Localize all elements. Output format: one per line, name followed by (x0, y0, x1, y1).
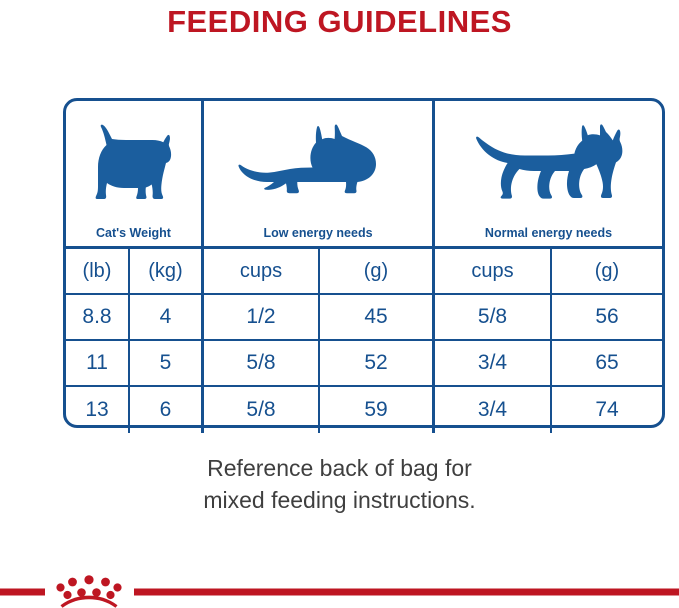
cell-weight-lb: 13 (66, 387, 128, 433)
header-label-normal-energy: Normal energy needs (485, 226, 612, 240)
cell-low-grams: 45 (318, 295, 432, 339)
royal-canin-crown-logo (0, 568, 679, 608)
cell-low-grams: 59 (318, 387, 432, 433)
cell-weight-lb: 8.8 (66, 295, 128, 339)
footnote-line-2: mixed feeding instructions. (0, 484, 679, 516)
page-title: FEEDING GUIDELINES (0, 0, 679, 44)
table-row: 8.8 4 1/2 45 5/8 56 (66, 295, 662, 341)
column-header-low-cups: cups (201, 249, 318, 293)
table-row: 11 5 5/8 52 3/4 65 (66, 341, 662, 387)
cell-low-cups: 5/8 (201, 341, 318, 385)
footnote: Reference back of bag for mixed feeding … (0, 452, 679, 516)
cell-normal-cups: 3/4 (432, 341, 550, 385)
footnote-line-1: Reference back of bag for (0, 452, 679, 484)
header-group-normal-energy: Normal energy needs (432, 101, 662, 246)
cell-normal-grams: 56 (550, 295, 662, 339)
table-icon-header-row: Cat's Weight Low energy needs No (66, 101, 662, 249)
header-label-cats-weight: Cat's Weight (96, 226, 171, 240)
cell-normal-cups: 5/8 (432, 295, 550, 339)
cell-weight-kg: 5 (128, 341, 201, 385)
header-group-low-energy: Low energy needs (201, 101, 432, 246)
header-group-cats-weight: Cat's Weight (66, 101, 201, 246)
resting-cat-icon (204, 101, 432, 226)
column-header-normal-cups: cups (432, 249, 550, 293)
column-header-lb: (lb) (66, 249, 128, 293)
walking-cat-icon (435, 101, 662, 226)
table-row: 13 6 5/8 59 3/4 74 (66, 387, 662, 433)
cell-low-cups: 1/2 (201, 295, 318, 339)
column-header-low-grams: (g) (318, 249, 432, 293)
cell-weight-kg: 4 (128, 295, 201, 339)
column-header-kg: (kg) (128, 249, 201, 293)
cell-normal-grams: 74 (550, 387, 662, 433)
cell-normal-cups: 3/4 (432, 387, 550, 433)
header-label-low-energy: Low energy needs (263, 226, 372, 240)
cell-weight-kg: 6 (128, 387, 201, 433)
feeding-guidelines-table: Cat's Weight Low energy needs No (63, 98, 665, 428)
column-header-normal-grams: (g) (550, 249, 662, 293)
standing-cat-icon (66, 101, 201, 226)
cell-low-cups: 5/8 (201, 387, 318, 433)
cell-weight-lb: 11 (66, 341, 128, 385)
cell-normal-grams: 65 (550, 341, 662, 385)
cell-low-grams: 52 (318, 341, 432, 385)
table-units-header-row: (lb) (kg) cups (g) cups (g) (66, 249, 662, 295)
